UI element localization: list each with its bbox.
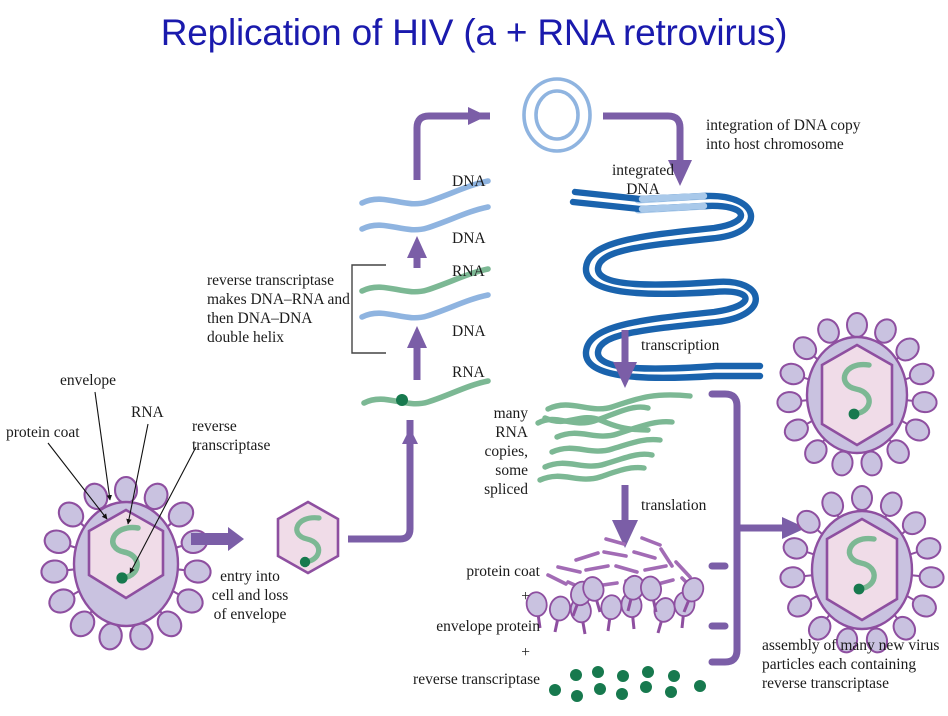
- strand-rna-genome: [364, 381, 488, 404]
- capsid-uncoated: [278, 502, 338, 573]
- label-strand-dna-top: DNA: [452, 173, 486, 192]
- label-many-rna-copies: many RNA copies, some spliced: [438, 405, 528, 500]
- label-strand-dna-upper-lower: DNA: [452, 230, 486, 249]
- diagram-graphics: [0, 0, 948, 716]
- strand-dna-hybrid: [362, 295, 488, 318]
- rna-copy: [552, 440, 660, 452]
- label-reverse-transcriptase-product: reverse transcriptase: [380, 671, 540, 690]
- label-reverse-transcriptase-callout: reverse transcriptase: [192, 418, 270, 456]
- rna-genome-enzyme-dot: [396, 394, 408, 406]
- label-protein-coat: protein coat: [6, 424, 80, 443]
- reverse-transcriptase-units: [549, 666, 706, 702]
- arrow-reverse-transcription-2: [407, 236, 427, 268]
- virion-intact: [40, 477, 211, 651]
- rna-copy: [540, 468, 644, 480]
- label-assembly: assembly of many new virus particles eac…: [762, 637, 948, 694]
- reverse-transcriptase-bracket: [352, 265, 386, 353]
- label-translation: translation: [641, 497, 706, 516]
- assembly-pathway: [712, 394, 790, 662]
- strand-dna-lower: [362, 207, 488, 230]
- label-rna: RNA: [131, 404, 164, 423]
- protein-coat-subunits: [548, 538, 696, 592]
- label-integration: integration of DNA copy into host chromo…: [706, 117, 861, 155]
- circular-dna: [524, 79, 590, 151]
- rna-copy: [548, 395, 690, 409]
- label-plus-two: +: [380, 644, 530, 663]
- label-protein-coat-product: protein coat: [380, 563, 540, 582]
- virion-new-lower: [779, 486, 944, 654]
- rna-copies-group: [538, 395, 690, 480]
- label-integrated-dna: integrated DNA: [595, 162, 691, 200]
- arrow-translation: [612, 485, 638, 548]
- label-strand-dna-mid-lower: DNA: [452, 323, 486, 342]
- label-strand-rna-bottom: RNA: [452, 364, 485, 383]
- reverse-transcriptase-dot: [116, 572, 127, 583]
- arrow-reverse-transcription-1: [407, 326, 427, 380]
- label-transcription: transcription: [641, 337, 719, 356]
- hiv-replication-diagram: Replication of HIV (a + RNA retrovirus): [0, 0, 948, 716]
- label-entry-into-cell: entry into cell and loss of envelope: [180, 568, 320, 625]
- virion-new-upper: [776, 313, 937, 477]
- arrow-dna-to-circle: [417, 107, 490, 180]
- arrow-uncoating-to-rna: [348, 420, 418, 539]
- label-plus-one: +: [380, 588, 530, 607]
- label-reverse-transcriptase-bracket: reverse transcriptase makes DNA–RNA and …: [207, 272, 350, 348]
- label-envelope-protein-product: envelope protein: [380, 618, 540, 637]
- label-envelope: envelope: [60, 372, 116, 391]
- label-strand-rna-mid-upper: RNA: [452, 263, 485, 282]
